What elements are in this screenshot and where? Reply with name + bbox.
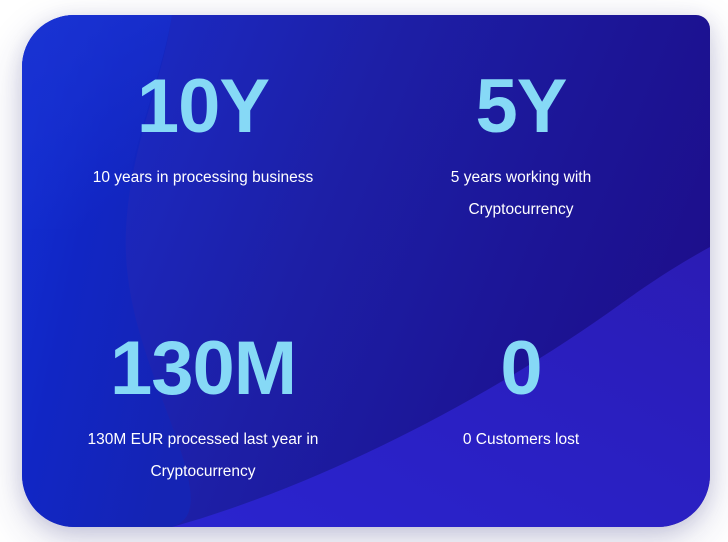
stat-item-years-with-cryptocurrency: 5Y 5 years working with Cryptocurrency [366,15,710,271]
stat-label: 5 years working with Cryptocurrency [421,162,621,226]
page-root: 10Y 10 years in processing business 5Y 5… [0,0,728,542]
stat-value: 130M [110,333,296,406]
stat-value: 10Y [137,71,269,144]
stat-value: 5Y [476,71,567,144]
stat-item-customers-lost: 0 0 Customers lost [366,271,710,527]
stat-label: 0 Customers lost [463,424,579,456]
stat-item-eur-processed-last-year: 130M 130M EUR processed last year in Cry… [22,271,366,527]
stat-label: 10 years in processing business [93,162,314,194]
stats-grid: 10Y 10 years in processing business 5Y 5… [22,15,710,527]
stat-value: 0 [500,333,541,406]
stat-label: 130M EUR processed last year in Cryptocu… [68,424,338,488]
stat-item-years-in-processing: 10Y 10 years in processing business [22,15,366,271]
statistics-card: 10Y 10 years in processing business 5Y 5… [22,15,710,527]
